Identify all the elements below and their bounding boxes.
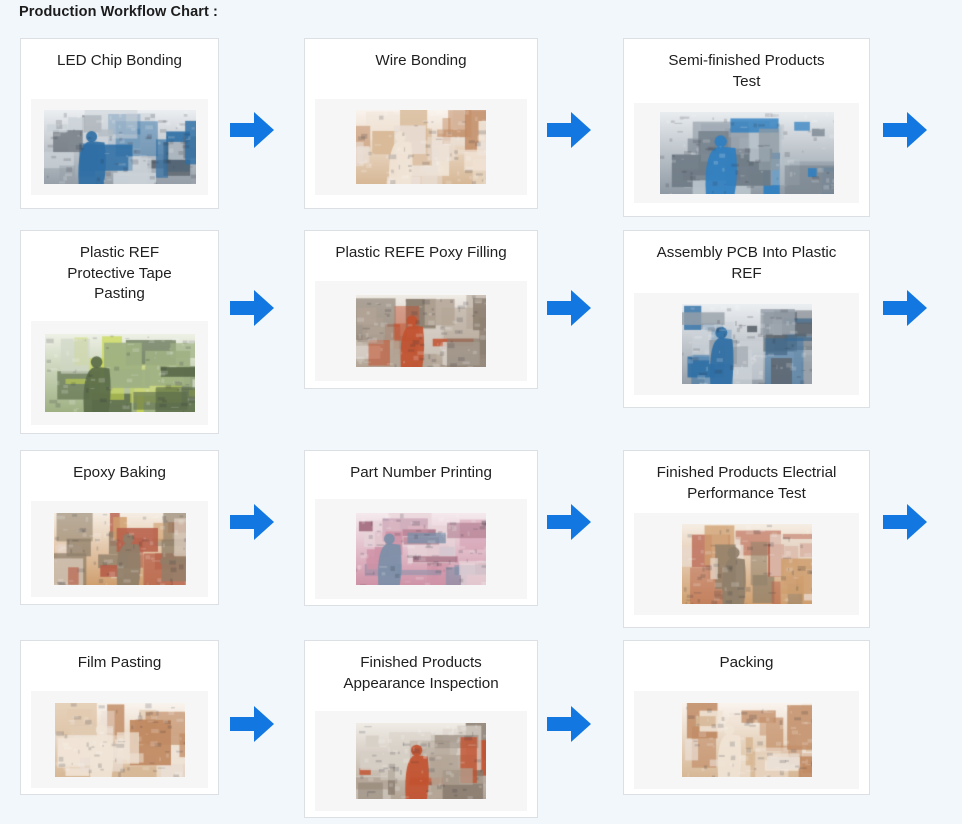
workflow-step-label-line: LED Chip Bonding bbox=[57, 52, 182, 69]
workflow-step-photo bbox=[44, 110, 196, 184]
workflow-step-photo-band bbox=[315, 711, 527, 811]
workflow-step-label-line: Film Pasting bbox=[78, 654, 162, 671]
workflow-step-photo-band bbox=[315, 281, 527, 381]
workflow-step-label: Wire Bonding bbox=[305, 39, 537, 72]
workflow-step-card[interactable]: Wire Bonding bbox=[304, 38, 538, 209]
workflow-step-label-line: Plastic REF bbox=[80, 244, 159, 261]
workflow-step-label-line: Pasting bbox=[94, 285, 145, 302]
workflow-step-photo bbox=[55, 703, 185, 777]
arrow-right-icon bbox=[546, 288, 592, 328]
workflow-step-label: Plastic REFE Poxy Filling bbox=[305, 231, 537, 264]
workflow-step-photo-band bbox=[634, 103, 859, 203]
workflow-step-photo bbox=[356, 295, 486, 367]
workflow-step-label: Finished ProductsAppearance Inspection bbox=[305, 641, 537, 694]
arrow-right-icon bbox=[229, 288, 275, 328]
workflow-step-photo-band bbox=[315, 99, 527, 195]
workflow-step-label: Film Pasting bbox=[21, 641, 218, 674]
arrow-right-icon bbox=[546, 502, 592, 542]
arrow-right-icon bbox=[229, 704, 275, 744]
workflow-step-photo bbox=[682, 524, 812, 604]
workflow-step-card[interactable]: Assembly PCB Into PlasticREF bbox=[623, 230, 870, 408]
page-title: Production Workflow Chart : bbox=[19, 4, 218, 20]
workflow-step-card[interactable]: Finished Products ElectrialPerformance T… bbox=[623, 450, 870, 628]
workflow-step-label-line: Protective Tape bbox=[67, 265, 171, 282]
workflow-step-label: Semi-finished ProductsTest bbox=[624, 39, 869, 92]
workflow-row: LED Chip BondingWire BondingSemi-finishe… bbox=[0, 38, 962, 217]
workflow-step-card[interactable]: Plastic REFProtective TapePasting bbox=[20, 230, 219, 434]
workflow-step-photo bbox=[356, 723, 486, 799]
workflow-step-label: Part Number Printing bbox=[305, 451, 537, 484]
workflow-step-photo bbox=[682, 703, 812, 777]
workflow-step-label-line: REF bbox=[731, 265, 761, 282]
workflow-step-photo-band bbox=[634, 691, 859, 789]
workflow-step-label: Packing bbox=[624, 641, 869, 674]
workflow-step-label: LED Chip Bonding bbox=[21, 39, 218, 72]
workflow-step-label-line: Plastic REFE Poxy Filling bbox=[335, 244, 506, 261]
workflow-step-label-line: Test bbox=[733, 73, 761, 90]
arrow-right-icon bbox=[882, 502, 928, 542]
workflow-step-card[interactable]: Part Number Printing bbox=[304, 450, 538, 606]
workflow-step-label-line: Appearance Inspection bbox=[343, 675, 498, 692]
arrow-right-icon bbox=[882, 110, 928, 150]
arrow-right-icon bbox=[546, 704, 592, 744]
workflow-step-label: Finished Products ElectrialPerformance T… bbox=[624, 451, 869, 504]
workflow-step-card[interactable]: Epoxy Baking bbox=[20, 450, 219, 605]
workflow-step-photo bbox=[356, 110, 486, 184]
workflow-step-photo-band bbox=[31, 691, 208, 788]
workflow-step-photo bbox=[682, 304, 812, 384]
workflow-step-photo-band bbox=[634, 513, 859, 615]
workflow-step-card[interactable]: Finished ProductsAppearance Inspection bbox=[304, 640, 538, 818]
workflow-step-card[interactable]: LED Chip Bonding bbox=[20, 38, 219, 209]
workflow-step-label-line: Finished Products bbox=[360, 654, 482, 671]
arrow-right-icon bbox=[229, 110, 275, 150]
workflow-step-photo-band bbox=[31, 99, 208, 195]
workflow-step-photo bbox=[660, 112, 834, 194]
workflow-step-label-line: Wire Bonding bbox=[375, 52, 466, 69]
arrow-right-icon bbox=[882, 288, 928, 328]
workflow-step-photo-band bbox=[31, 501, 208, 597]
workflow-step-photo bbox=[45, 334, 195, 412]
workflow-step-photo-band bbox=[315, 499, 527, 599]
workflow-diagram: LED Chip BondingWire BondingSemi-finishe… bbox=[0, 38, 962, 818]
workflow-step-photo bbox=[356, 513, 486, 585]
workflow-step-label-line: Epoxy Baking bbox=[73, 464, 166, 481]
workflow-step-card[interactable]: Semi-finished ProductsTest bbox=[623, 38, 870, 217]
workflow-step-photo bbox=[54, 513, 186, 585]
workflow-step-card[interactable]: Film Pasting bbox=[20, 640, 219, 795]
workflow-step-label: Epoxy Baking bbox=[21, 451, 218, 484]
workflow-step-label-line: Semi-finished Products bbox=[668, 52, 824, 69]
arrow-right-icon bbox=[229, 502, 275, 542]
workflow-step-label-line: Finished Products Electrial bbox=[657, 464, 837, 481]
workflow-step-label-line: Packing bbox=[719, 654, 773, 671]
workflow-step-label-line: Performance Test bbox=[687, 485, 806, 502]
workflow-step-photo-band bbox=[634, 293, 859, 395]
workflow-row: Plastic REFProtective TapePastingPlastic… bbox=[0, 230, 962, 434]
workflow-step-photo-band bbox=[31, 321, 208, 425]
workflow-step-label: Plastic REFProtective TapePasting bbox=[21, 231, 218, 305]
workflow-step-label-line: Assembly PCB Into Plastic bbox=[657, 244, 837, 261]
workflow-row: Epoxy BakingPart Number PrintingFinished… bbox=[0, 450, 962, 628]
workflow-step-card[interactable]: Plastic REFE Poxy Filling bbox=[304, 230, 538, 389]
workflow-step-label: Assembly PCB Into PlasticREF bbox=[624, 231, 869, 284]
workflow-step-label-line: Part Number Printing bbox=[350, 464, 492, 481]
workflow-step-card[interactable]: Packing bbox=[623, 640, 870, 795]
workflow-row: Film PastingFinished ProductsAppearance … bbox=[0, 640, 962, 818]
arrow-right-icon bbox=[546, 110, 592, 150]
